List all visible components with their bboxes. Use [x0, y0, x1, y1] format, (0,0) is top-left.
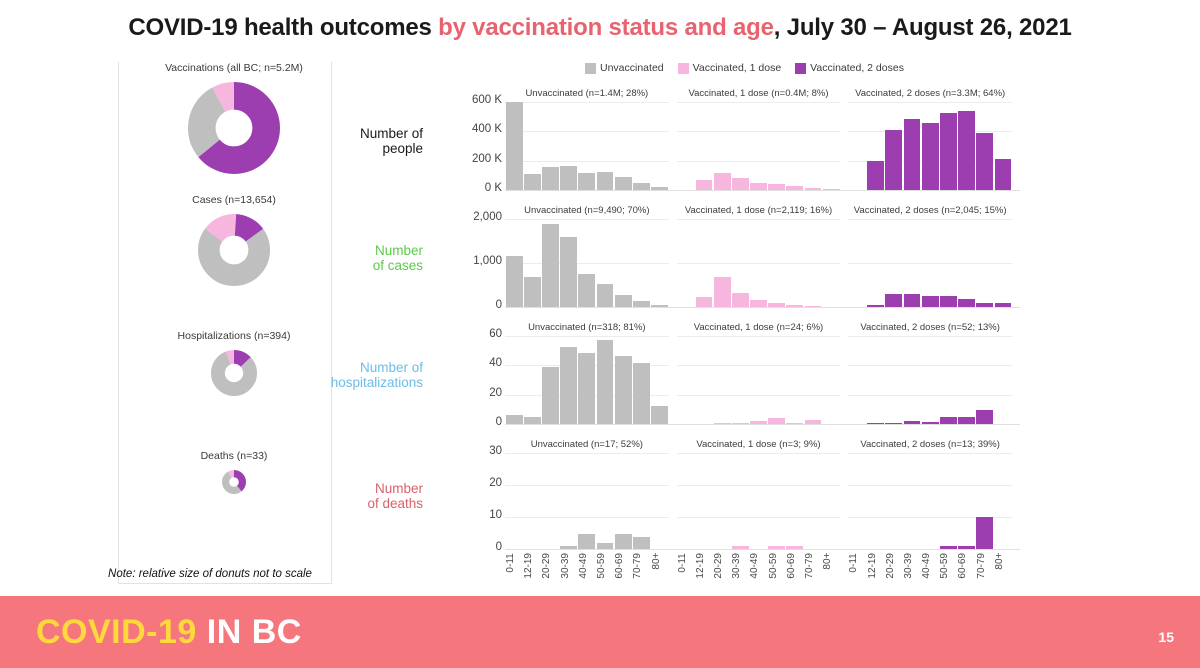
row-title: Numberof deaths [305, 481, 423, 511]
legend-item: Vaccinated, 1 dose [678, 62, 782, 74]
bar [696, 180, 713, 190]
plot-area [677, 453, 841, 549]
x-axis-tick-label: 20-29 [541, 553, 559, 579]
chart-panel: Vaccinated, 1 dose (n=3; 9%) [677, 439, 841, 549]
bar [940, 417, 957, 424]
panel-header: Vaccinated, 2 doses (n=13; 39%) [848, 439, 1012, 450]
x-axis-tick-label: 70-79 [804, 553, 822, 579]
y-axis-tick-label: 10 [440, 509, 502, 521]
bar [597, 340, 614, 424]
plot-area [848, 219, 1012, 307]
panel-header: Unvaccinated (n=17; 52%) [505, 439, 669, 450]
bar [995, 159, 1012, 190]
x-axis-tick-label: 20-29 [885, 553, 903, 579]
y-axis-tick-label: 60 [440, 328, 502, 340]
bar [714, 173, 731, 190]
x-axis-tick-label: 80+ [651, 553, 669, 579]
bar [542, 224, 559, 307]
x-axis-tick-label: 60-69 [957, 553, 975, 579]
x-axis-tick-label: 70-79 [632, 553, 650, 579]
bar [560, 166, 577, 190]
bar [976, 410, 993, 424]
bar [958, 111, 975, 190]
page-number: 15 [1158, 629, 1174, 645]
bar [922, 296, 939, 307]
bar-group [848, 219, 1012, 307]
bar [597, 284, 614, 307]
bar-group [505, 102, 669, 190]
x-axis-tick-label: 60-69 [786, 553, 804, 579]
panel-group: Unvaccinated (n=318; 81%)Vaccinated, 1 d… [505, 322, 1020, 424]
chart-panel: Vaccinated, 2 doses (n=3.3M; 64%) [848, 88, 1012, 190]
chart-panel: Vaccinated, 2 doses (n=13; 39%) [848, 439, 1012, 549]
panel-header: Unvaccinated (n=9,490; 70%) [505, 205, 669, 216]
bar [696, 297, 713, 307]
bar-group [505, 453, 669, 549]
plot-area [677, 219, 841, 307]
y-axis-tick-label: 0 K [440, 182, 502, 194]
bar [633, 537, 650, 549]
x-axis-group: 0-1112-1920-2930-3940-4950-5960-6970-798… [848, 553, 1012, 579]
chart-panel: Unvaccinated (n=17; 52%) [505, 439, 669, 549]
bar [560, 237, 577, 307]
panel-header: Vaccinated, 1 dose (n=0.4M; 8%) [677, 88, 841, 99]
panel-header: Vaccinated, 1 dose (n=2,119; 16%) [677, 205, 841, 216]
chart-panel: Vaccinated, 2 doses (n=2,045; 15%) [848, 205, 1012, 307]
y-axis-tick-label: 2,000 [440, 211, 502, 223]
bar [976, 133, 993, 190]
plot-area [505, 336, 669, 424]
row-title-line1: Number of [305, 360, 423, 375]
axis-baseline [505, 549, 1020, 550]
y-axis-tick-label: 30 [440, 445, 502, 457]
panel-group: Unvaccinated (n=17; 52%)Vaccinated, 1 do… [505, 439, 1020, 549]
chart-row: Numberof cases01,0002,000Unvaccinated (n… [440, 205, 1020, 309]
x-axis-tick-label: 40-49 [749, 553, 767, 579]
chart-row: Number ofhospitalizations0204060Unvaccin… [440, 322, 1020, 426]
donut-label: Deaths (n=33) [118, 450, 350, 462]
bar-group [505, 219, 669, 307]
bar-group [677, 453, 841, 549]
row-title: Number ofpeople [305, 126, 423, 156]
bar [885, 294, 902, 307]
axis-baseline [505, 307, 1020, 308]
row-title: Number ofhospitalizations [305, 360, 423, 390]
bar [578, 173, 595, 190]
donut-label: Cases (n=13,654) [118, 194, 350, 206]
row-title-line1: Number [305, 243, 423, 258]
bar [732, 293, 749, 307]
bar [542, 167, 559, 190]
panel-header: Unvaccinated (n=1.4M; 28%) [505, 88, 669, 99]
row-title-line1: Number [305, 481, 423, 496]
panel-header: Vaccinated, 1 dose (n=24; 6%) [677, 322, 841, 333]
chart-panel: Vaccinated, 1 dose (n=0.4M; 8%) [677, 88, 841, 190]
chart-legend: UnvaccinatedVaccinated, 1 doseVaccinated… [585, 62, 904, 74]
bar [597, 172, 614, 190]
y-axis-tick-label: 1,000 [440, 255, 502, 267]
bar [958, 299, 975, 307]
x-axis-tick-label: 50-59 [596, 553, 614, 579]
bar [524, 417, 541, 424]
bar [615, 534, 632, 549]
x-axis-tick-label: 30-39 [560, 553, 578, 579]
x-axis-tick-label: 20-29 [713, 553, 731, 579]
plot-area [505, 102, 669, 190]
footer-brand-inbc: IN BC [207, 613, 302, 651]
donut-label: Vaccinations (all BC; n=5.2M) [118, 62, 350, 74]
x-axis-tick-label: 50-59 [768, 553, 786, 579]
y-axis-tick-label: 40 [440, 357, 502, 369]
x-axis-tick-label: 40-49 [921, 553, 939, 579]
footer-bar: COVID-19 IN BC 15 [0, 596, 1200, 668]
bar [958, 417, 975, 424]
row-title-line2: of deaths [305, 496, 423, 511]
chart-panel: Vaccinated, 1 dose (n=24; 6%) [677, 322, 841, 424]
x-axis-tick-label: 40-49 [578, 553, 596, 579]
legend-swatch-icon [795, 63, 806, 74]
x-axis-tick-label: 0-11 [505, 553, 523, 579]
x-axis-labels: 0-1112-1920-2930-3940-4950-5960-6970-798… [505, 553, 1020, 579]
x-axis-tick-label: 30-39 [903, 553, 921, 579]
x-axis-tick-label: 0-11 [848, 553, 866, 579]
bar [940, 296, 957, 307]
panel-group: Unvaccinated (n=1.4M; 28%)Vaccinated, 1 … [505, 88, 1020, 190]
x-axis-tick-label: 80+ [822, 553, 840, 579]
panel-header: Vaccinated, 2 doses (n=52; 13%) [848, 322, 1012, 333]
x-axis-tick-label: 12-19 [867, 553, 885, 579]
plot-area [505, 219, 669, 307]
bar-group [505, 336, 669, 424]
legend-item: Vaccinated, 2 doses [795, 62, 904, 74]
bar [615, 295, 632, 307]
bar [867, 161, 884, 190]
chart-panel: Unvaccinated (n=1.4M; 28%) [505, 88, 669, 190]
legend-swatch-icon [678, 63, 689, 74]
chart-panel: Vaccinated, 2 doses (n=52; 13%) [848, 322, 1012, 424]
y-axis-tick-label: 0 [440, 541, 502, 553]
axis-baseline [505, 190, 1020, 191]
donut-note: Note: relative size of donuts not to sca… [80, 568, 340, 580]
bar [615, 356, 632, 424]
plot-area [677, 102, 841, 190]
bar [542, 367, 559, 424]
chart-row: Number ofpeople0 K200 K400 K600 KUnvacci… [440, 88, 1020, 192]
x-axis-tick-label: 12-19 [523, 553, 541, 579]
legend-label: Vaccinated, 2 doses [810, 62, 904, 74]
small-multiples-chart: Number ofpeople0 K200 K400 K600 KUnvacci… [440, 88, 1020, 588]
bar-group [677, 219, 841, 307]
bar [560, 347, 577, 424]
bar [904, 294, 921, 307]
bar [732, 178, 749, 190]
plot-area [677, 336, 841, 424]
title-part2: , July 30 – August 26, 2021 [774, 14, 1072, 41]
legend-item: Unvaccinated [585, 62, 664, 74]
bar [976, 517, 993, 549]
x-axis-tick-label: 12-19 [695, 553, 713, 579]
bar-group [848, 336, 1012, 424]
donut-block: Vaccinations (all BC; n=5.2M) [118, 62, 350, 174]
footer-brand-covid: COVID-19 [36, 613, 197, 651]
bar-group [848, 102, 1012, 190]
plot-area [848, 336, 1012, 424]
bar [904, 119, 921, 190]
plot-area [848, 453, 1012, 549]
bar [885, 130, 902, 190]
bar [750, 183, 767, 190]
y-axis-tick-label: 200 K [440, 153, 502, 165]
panel-header: Vaccinated, 1 dose (n=3; 9%) [677, 439, 841, 450]
bar [651, 406, 668, 424]
row-title: Numberof cases [305, 243, 423, 273]
footer-brand: COVID-19 IN BC [36, 613, 302, 652]
bar [578, 534, 595, 549]
panel-header: Vaccinated, 2 doses (n=2,045; 15%) [848, 205, 1012, 216]
bar [922, 123, 939, 190]
bar [633, 183, 650, 190]
bar-group [677, 102, 841, 190]
row-title-line1: Number of [305, 126, 423, 141]
bar [506, 256, 523, 307]
legend-label: Unvaccinated [600, 62, 664, 74]
bar [714, 277, 731, 307]
bar [524, 277, 541, 307]
row-title-line2: of cases [305, 258, 423, 273]
page-title: COVID-19 health outcomes by vaccination … [0, 14, 1200, 42]
title-part1: COVID-19 health outcomes [128, 14, 438, 41]
x-axis-group: 0-1112-1920-2930-3940-4950-5960-6970-798… [677, 553, 841, 579]
legend-swatch-icon [585, 63, 596, 74]
row-title-line2: hospitalizations [305, 375, 423, 390]
bar [615, 177, 632, 190]
plot-area [505, 453, 669, 549]
x-axis-tick-label: 0-11 [677, 553, 695, 579]
x-axis-tick-label: 50-59 [939, 553, 957, 579]
bar [940, 113, 957, 190]
x-axis-group: 0-1112-1920-2930-3940-4950-5960-6970-798… [505, 553, 669, 579]
x-axis-tick-label: 60-69 [614, 553, 632, 579]
bar-group [848, 453, 1012, 549]
y-axis-tick-label: 600 K [440, 94, 502, 106]
y-axis-tick-label: 400 K [440, 123, 502, 135]
bar [524, 174, 541, 190]
bar [506, 102, 523, 190]
x-axis-tick-label: 70-79 [976, 553, 994, 579]
chart-panel: Vaccinated, 1 dose (n=2,119; 16%) [677, 205, 841, 307]
bar-group [677, 336, 841, 424]
bar [506, 415, 523, 424]
bar [578, 274, 595, 307]
panel-header: Vaccinated, 2 doses (n=3.3M; 64%) [848, 88, 1012, 99]
title-accent: by vaccination status and age [438, 14, 774, 41]
chart-panel: Unvaccinated (n=318; 81%) [505, 322, 669, 424]
donut-label: Hospitalizations (n=394) [118, 330, 350, 342]
axis-baseline [505, 424, 1020, 425]
x-axis-tick-label: 30-39 [731, 553, 749, 579]
legend-label: Vaccinated, 1 dose [693, 62, 782, 74]
bar [578, 353, 595, 424]
y-axis-tick-label: 0 [440, 299, 502, 311]
chart-panel: Unvaccinated (n=9,490; 70%) [505, 205, 669, 307]
y-axis-tick-label: 20 [440, 387, 502, 399]
bar [633, 363, 650, 424]
y-axis-tick-label: 20 [440, 477, 502, 489]
y-axis-tick-label: 0 [440, 416, 502, 428]
row-title-line2: people [305, 141, 423, 156]
chart-row: Numberof deaths0102030Unvaccinated (n=17… [440, 439, 1020, 551]
panel-header: Unvaccinated (n=318; 81%) [505, 322, 669, 333]
plot-area [848, 102, 1012, 190]
panel-group: Unvaccinated (n=9,490; 70%)Vaccinated, 1… [505, 205, 1020, 307]
x-axis-tick-label: 80+ [994, 553, 1012, 579]
